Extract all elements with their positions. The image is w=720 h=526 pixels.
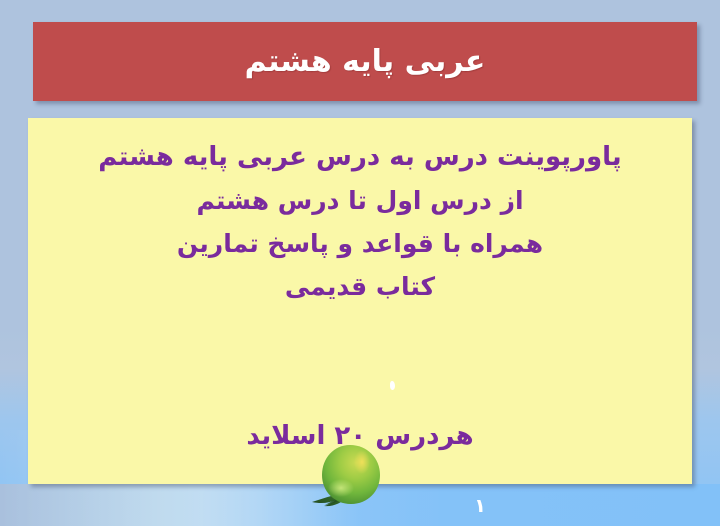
body-line-3: همراه با قواعد و پاسخ تمارین [28,222,692,265]
green-apple-icon [305,440,395,510]
slide-title-banner: عربی پایه هشتم [33,22,697,101]
presentation-slide: عربی پایه هشتم پاورپوینت درس به درس عربی… [0,0,720,526]
body-line-4: کتاب قدیمی [28,265,692,308]
body-line-1: پاورپوینت درس به درس عربی پایه هشتم [28,136,692,179]
slide-body-text: پاورپوینت درس به درس عربی پایه هشتم از د… [28,136,692,308]
slide-page-number: ۱ [468,497,492,516]
slide-body-panel: پاورپوینت درس به درس عربی پایه هشتم از د… [28,118,692,484]
decorative-dot [390,381,395,390]
body-line-2: از درس اول تا درس هشتم [28,179,692,222]
slide-title: عربی پایه هشتم [245,47,486,77]
